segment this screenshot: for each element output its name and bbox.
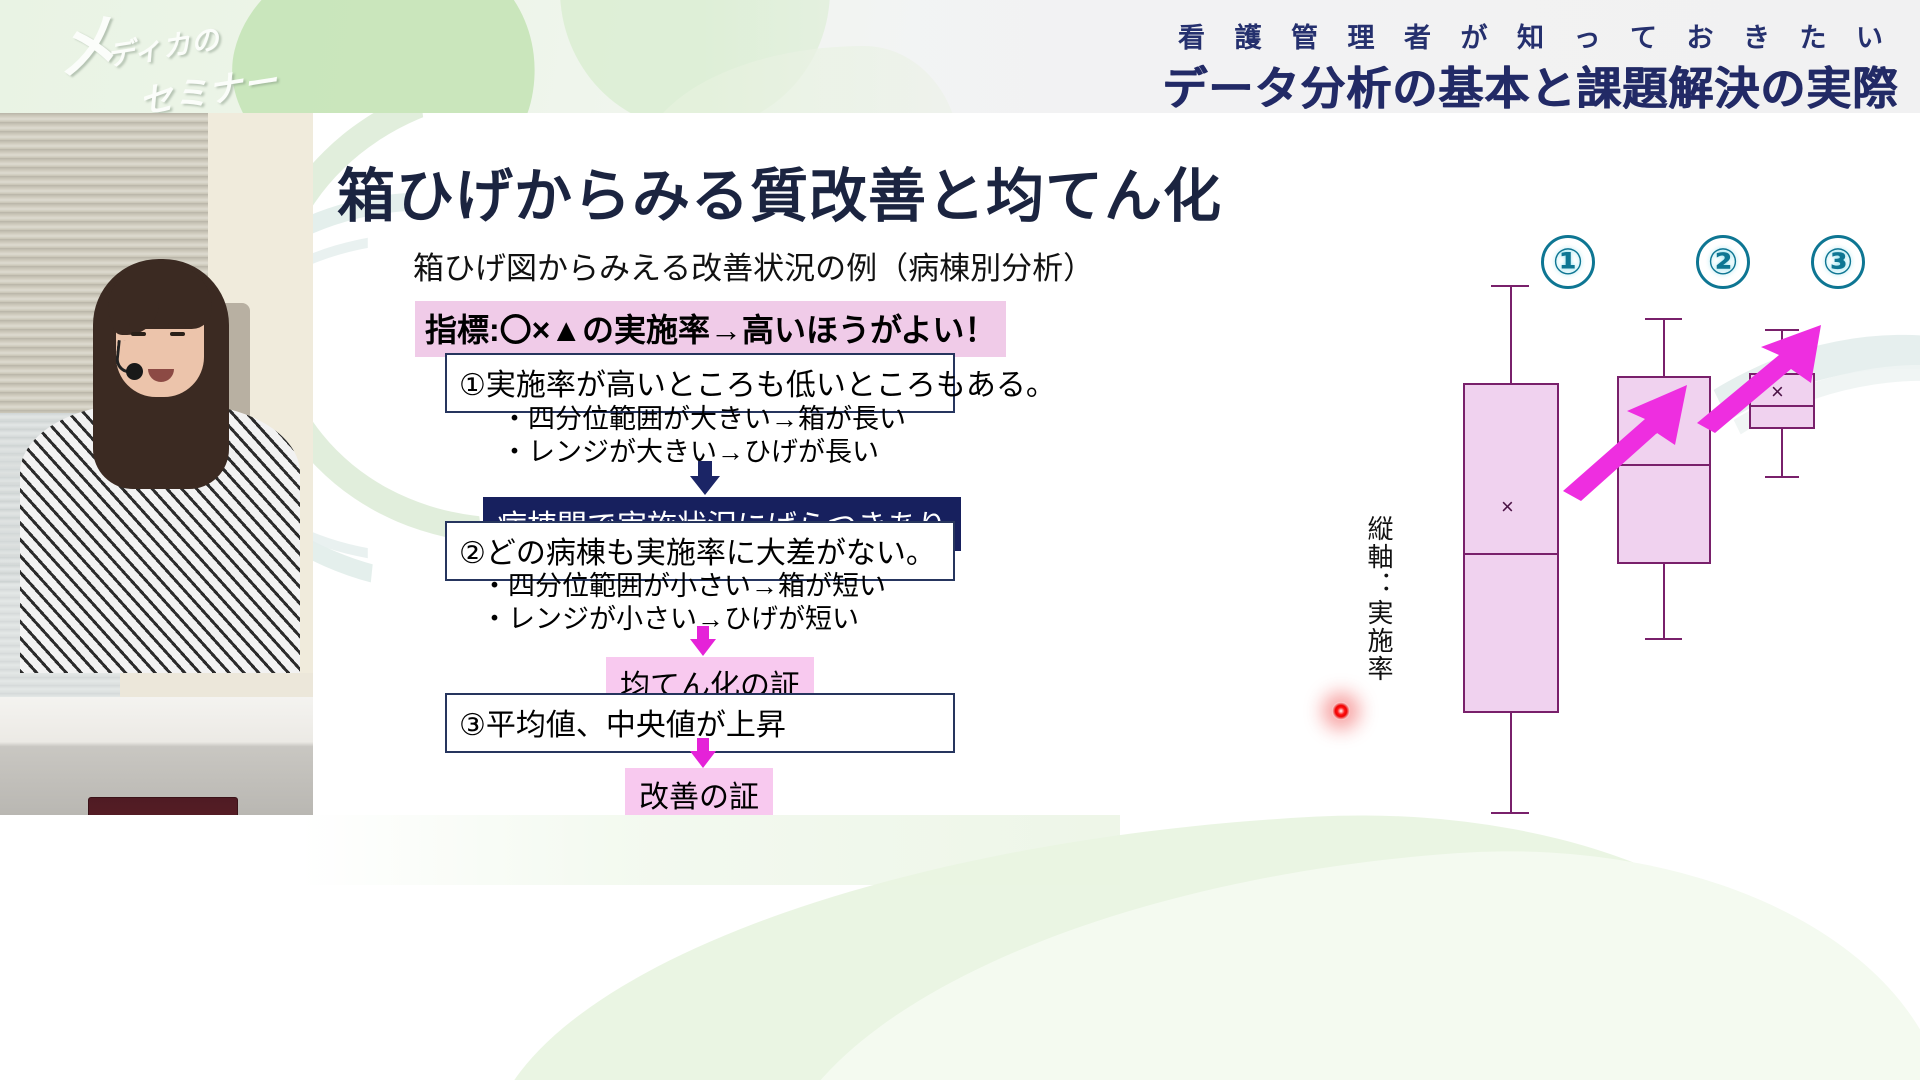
trend-arrow-1-to-2-icon — [1557, 383, 1697, 503]
point-2-bullets: ・四分位範囲が小さい→箱が短い ・レンジが小さい→ひげが短い — [481, 570, 886, 637]
whisker-cap-upper — [1491, 285, 1529, 287]
down-arrow-navy-icon — [690, 461, 720, 495]
header-banner: メ ディカの セミナー 看 護 管 理 者 が 知 っ て お き た い デー… — [0, 0, 1920, 130]
presenter-eye-left — [131, 332, 146, 336]
boxplot-chart: 縦軸：実施率 × ① × ② — [1073, 263, 1883, 793]
header-subtitle: 看 護 管 理 者 が 知 っ て お き た い — [1178, 16, 1894, 55]
whisker-lower — [1781, 429, 1783, 477]
boxplot-label-1: ① — [1541, 235, 1595, 289]
whisker-cap-lower — [1491, 812, 1529, 814]
chart-y-axis-label: 縦軸：実施率 — [1361, 515, 1398, 683]
slide-subtitle: 箱ひげ図からみえる改善状況の例（病棟別分析） — [413, 243, 1094, 288]
presenter-video-panel[interactable]: Panasonic — [0, 113, 313, 815]
boxplot-label-3: ③ — [1811, 235, 1865, 289]
screen-root: メ ディカの セミナー 看 護 管 理 者 が 知 っ て お き た い デー… — [0, 0, 1920, 1080]
header-title: データ分析の基本と課題解決の実際 — [1162, 52, 1898, 117]
conclusion-3-band: 改善の証 — [625, 768, 773, 815]
whisker-lower — [1663, 564, 1665, 639]
whisker-lower — [1510, 713, 1512, 813]
presenter-brow-right — [168, 323, 186, 326]
footer-decoration — [0, 815, 1920, 1080]
presenter-eye-right — [170, 332, 185, 336]
mean-marker: × — [1501, 496, 1514, 518]
trend-arrow-2-to-3-icon — [1693, 325, 1833, 435]
down-arrow-magenta-icon-2 — [690, 738, 716, 768]
presenter-brow-left — [129, 323, 147, 326]
whisker-upper — [1663, 318, 1665, 378]
slide-title: 箱ひげからみる質改善と均てん化 — [337, 149, 1222, 233]
whisker-cap-lower — [1645, 638, 1682, 640]
medica-seminar-logo: メ ディカの セミナー — [44, 6, 294, 114]
whisker-cap-upper — [1645, 318, 1682, 320]
point-1-bullets: ・四分位範囲が大きい→箱が長い ・レンジが大きい→ひげが長い — [501, 403, 906, 470]
boxplot-label-2: ② — [1696, 235, 1750, 289]
indicator-highlight-band: 指標:〇×▲の実施率→高いほうがよい！ — [415, 301, 1006, 357]
whisker-cap-lower — [1765, 476, 1799, 478]
median-line — [1465, 553, 1557, 555]
down-arrow-magenta-icon-1 — [690, 626, 716, 656]
headset-mic-capsule — [126, 363, 143, 380]
whisker-upper — [1510, 285, 1512, 385]
box-iqr — [1463, 383, 1559, 713]
slide-canvas: 箱ひげからみる質改善と均てん化 箱ひげ図からみえる改善状況の例（病棟別分析） 指… — [313, 113, 1920, 815]
laptop-lid: Panasonic — [88, 797, 238, 815]
laser-pointer-dot — [1332, 702, 1350, 720]
